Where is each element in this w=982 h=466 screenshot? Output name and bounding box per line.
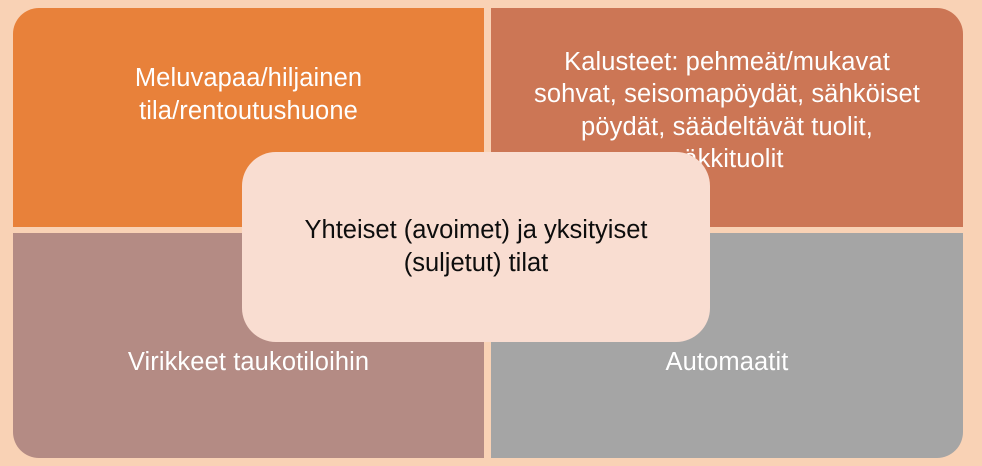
- quadrant-top-left-label: Meluvapaa/hiljainen tila/rentoutushuone: [125, 62, 372, 127]
- quadrant-bottom-right-label: Automaatit: [656, 346, 799, 378]
- center-overlay-card[interactable]: Yhteiset (avoimet) ja yksityiset (suljet…: [242, 152, 710, 342]
- center-overlay-label: Yhteiset (avoimet) ja yksityiset (suljet…: [276, 214, 676, 280]
- diagram-canvas: Meluvapaa/hiljainen tila/rentoutushuone …: [0, 0, 982, 466]
- quadrant-bottom-left-label: Virikkeet taukotiloihin: [118, 346, 379, 378]
